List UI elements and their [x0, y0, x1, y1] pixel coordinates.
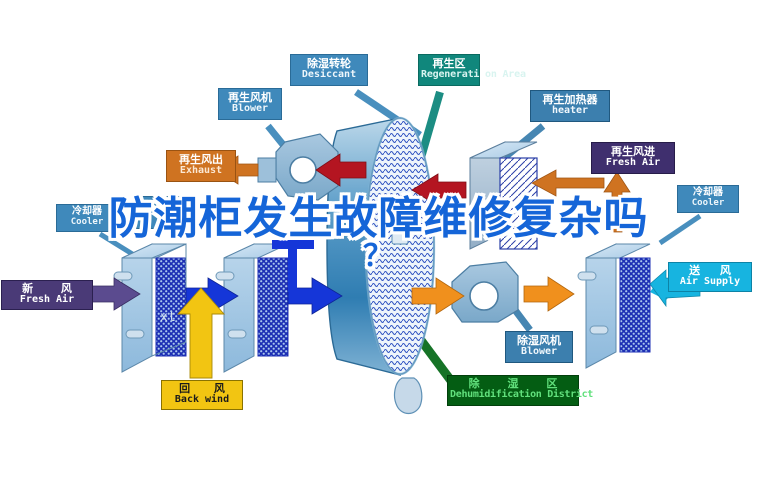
label-exhaust[interactable]: 再生风出 Exhaust: [166, 150, 236, 182]
label-en: Dehumidification District: [450, 390, 576, 401]
label-dehumidification-blower[interactable]: 除湿风机 Blower: [505, 331, 573, 363]
label-en: Cooler: [59, 218, 115, 228]
label-en: Fresh Air: [4, 295, 90, 306]
label-cooler-right[interactable]: 冷却器 Cooler: [677, 185, 739, 213]
label-desiccant-wheel[interactable]: 除湿转轮 Desiccant: [290, 54, 368, 86]
label-en: Cooler: [680, 199, 736, 209]
cooler-coil-2: [216, 244, 288, 372]
dehumidifier-diagram: 再生风机 Blower 除湿转轮 Desiccant 再生区 Regenerat…: [0, 0, 757, 488]
label-en: Desiccant: [293, 70, 365, 81]
label-en: Air Supply: [671, 277, 749, 288]
label-en: heater: [533, 106, 607, 117]
label-en: Fresh Air: [594, 158, 672, 169]
label-air-supply[interactable]: 送 风 Air Supply: [668, 262, 752, 292]
label-en: Exhaust: [169, 166, 233, 177]
label-dehumidification-district[interactable]: 除 湿 区 Dehumidification District: [447, 375, 579, 406]
regen-heater-arrow: [532, 170, 604, 196]
label-fresh-air-intake[interactable]: 新 风 Fresh Air: [1, 280, 93, 310]
label-cn: 冷却器: [139, 199, 195, 210]
label-regeneration-heater[interactable]: 再生加热器 heater: [530, 90, 610, 122]
label-cooler-left[interactable]: 冷却器 Cooler: [56, 204, 118, 232]
diagram-artwork: [0, 0, 757, 488]
label-cooler-middle[interactable]: 冷却器: [136, 196, 198, 229]
label-back-wind[interactable]: 回 风 Back wind: [161, 380, 243, 410]
label-en: Blower: [221, 104, 279, 115]
regeneration-heater: [470, 142, 537, 249]
label-en: Blower: [508, 347, 570, 358]
blower-out-arrow: [524, 277, 574, 311]
cooler-coil-1: [114, 244, 186, 372]
label-regeneration-blower[interactable]: 再生风机 Blower: [218, 88, 282, 120]
dehumidification-blower: [452, 262, 518, 322]
watermark-text: xt: [160, 310, 177, 325]
label-regeneration-fresh-air[interactable]: 再生风进 Fresh Air: [591, 142, 675, 174]
regen-intake-arrow: [604, 172, 630, 232]
label-en: Back wind: [164, 395, 240, 406]
label-regeneration-area[interactable]: 再生区 Regenerati on Area: [418, 54, 480, 86]
label-en: Regenerati on Area: [421, 70, 477, 81]
cooler-coil-3: [578, 244, 650, 368]
